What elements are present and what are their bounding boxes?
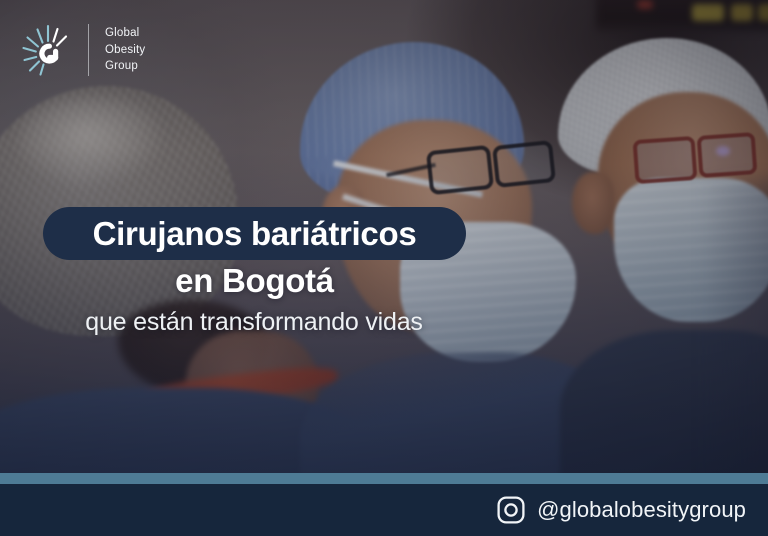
instagram-icon[interactable] xyxy=(496,495,526,525)
sunburst-g-logo-icon xyxy=(22,24,74,76)
logo-divider xyxy=(88,24,89,76)
brand-logo[interactable]: Global Obesity Group xyxy=(22,24,145,76)
brand-name: Global Obesity Group xyxy=(105,25,145,75)
headline-line-3: que están transformando vidas xyxy=(24,308,484,337)
accent-stripe xyxy=(0,473,768,484)
headline-line-2: en Bogotá xyxy=(43,262,466,300)
promo-poster: Global Obesity Group Cirujanos bariátric… xyxy=(0,0,768,536)
headline-line-1: Cirujanos bariátricos xyxy=(43,207,466,260)
social-handle[interactable]: @globalobesitygroup xyxy=(496,484,746,536)
instagram-handle-text: @globalobesitygroup xyxy=(537,497,746,523)
